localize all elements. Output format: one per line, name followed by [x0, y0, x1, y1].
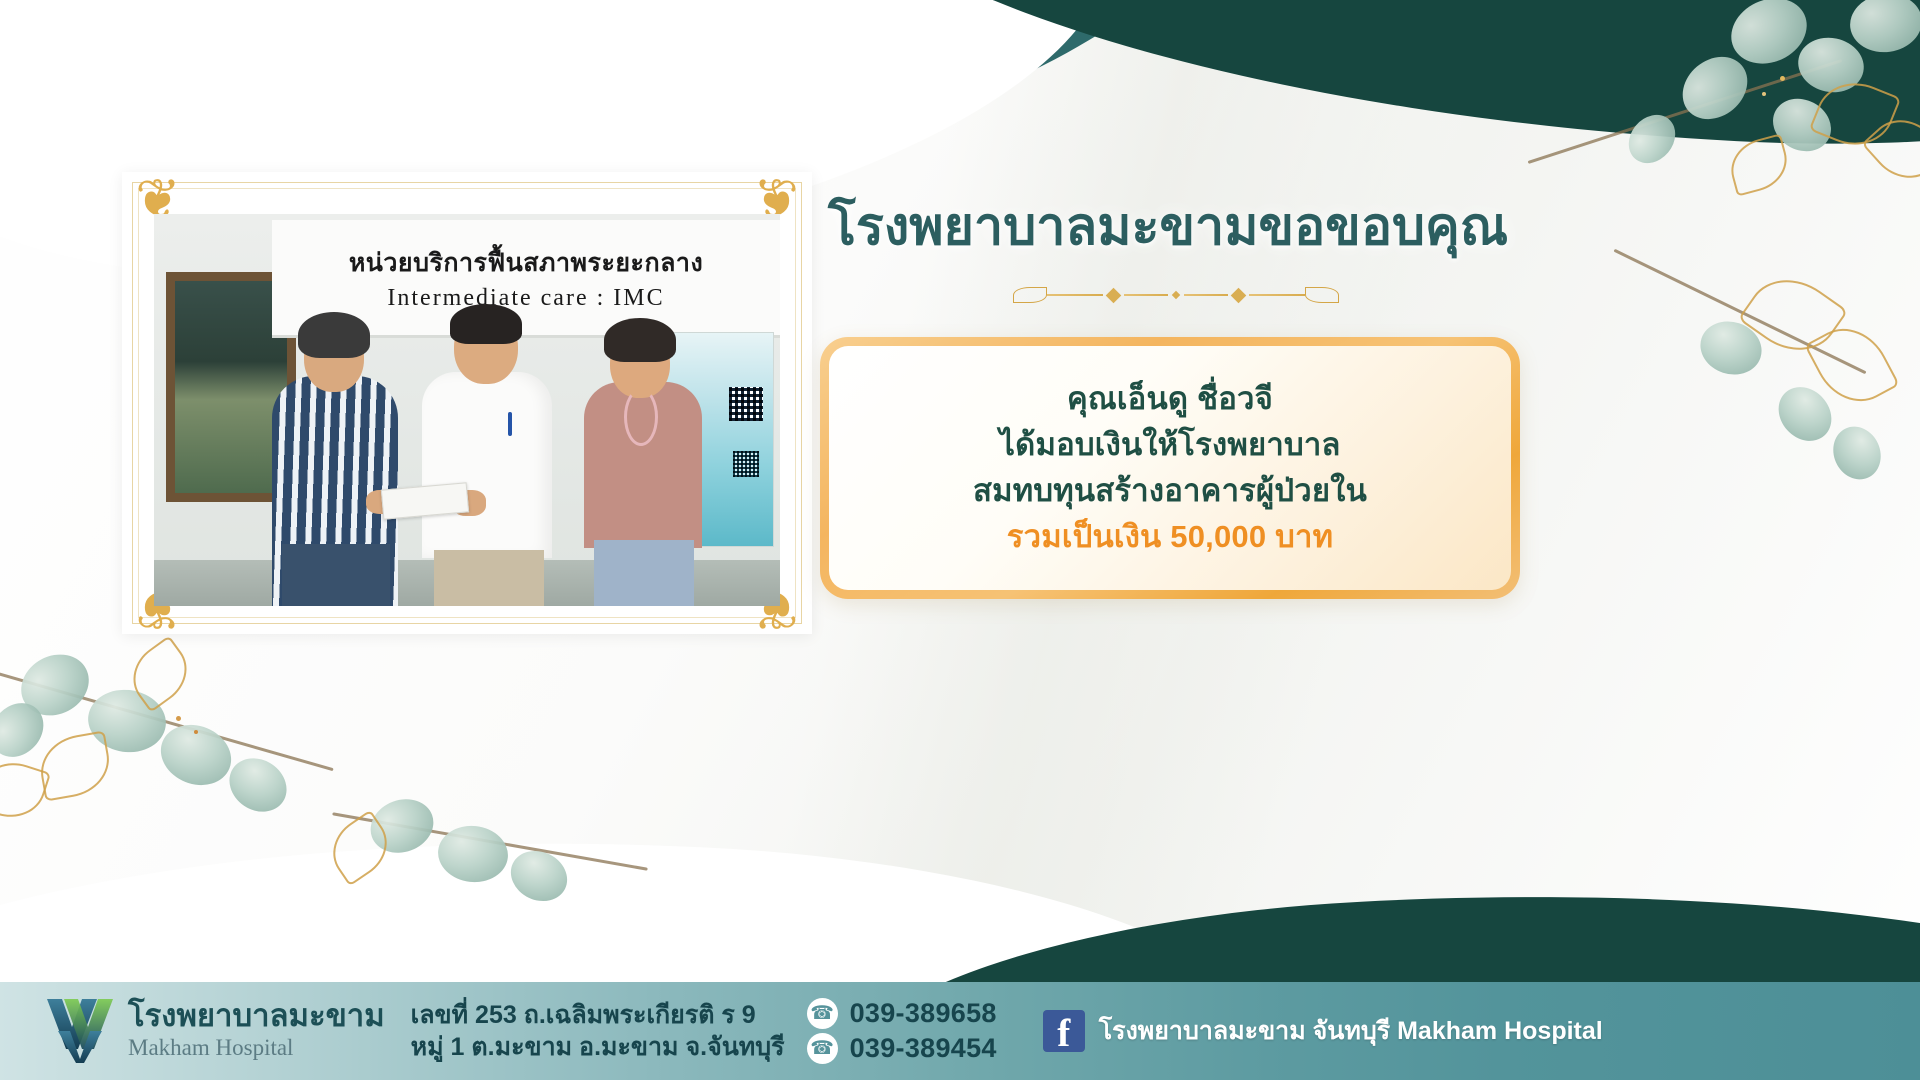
donation-line-2: ได้มอบเงินให้โรงพยาบาล: [999, 423, 1340, 467]
divider-eye-icon: [1013, 287, 1047, 303]
donation-photo: หน่วยบริการฟื้นสภาพระยะกลาง Intermediate…: [154, 214, 780, 606]
footer-bar: โรงพยาบาลมะขาม Makham Hospital เลขที่ 25…: [0, 982, 1920, 1080]
hospital-name-english: Makham Hospital: [128, 1034, 385, 1062]
divider-eye-icon-2: [1305, 287, 1339, 303]
phone-icon: ☎: [807, 998, 838, 1029]
donor-name-line: คุณเอ็นดู ชื่อวจี: [1067, 377, 1273, 421]
donation-amount-line: รวมเป็นเงิน 50,000 บาท: [1007, 515, 1333, 559]
photo-person-left-legs: [282, 544, 390, 606]
phone-list: ☎ 039-389658 ☎ 039-389454: [807, 998, 997, 1064]
photo-person-center-legs: [434, 550, 544, 606]
photo-person-right-necklace: [624, 388, 658, 446]
photo-person-left-hair: [298, 312, 370, 358]
photo-sign-english: Intermediate care : IMC: [387, 285, 664, 312]
phone-icon-2: ☎: [807, 1033, 838, 1064]
qr-code-secondary-icon: [733, 451, 759, 477]
photo-person-center-body: [422, 372, 552, 558]
address-line-1: เลขที่ 253 ถ.เฉลิมพระเกียรติ ร 9: [411, 999, 785, 1031]
donation-message-card: คุณเอ็นดู ชื่อวจี ได้มอบเงินให้โรงพยาบาล…: [820, 337, 1520, 599]
qr-code-icon: [729, 387, 763, 421]
photo-pen-icon: [508, 412, 512, 436]
phone-row-2[interactable]: ☎ 039-389454: [807, 1033, 997, 1064]
hospital-name-block: โรงพยาบาลมะขาม Makham Hospital: [128, 1000, 385, 1061]
phone-row-1[interactable]: ☎ 039-389658: [807, 998, 997, 1029]
photo-person-right-hair: [604, 318, 676, 362]
facebook-page-name: โรงพยาบาลมะขาม จันทบุรี Makham Hospital: [1099, 1011, 1603, 1051]
address-line-2: หมู่ 1 ต.มะขาม อ.มะขาม จ.จันทบุรี: [411, 1031, 785, 1063]
gold-divider-ornament: [966, 281, 1386, 309]
hospital-address: เลขที่ 253 ถ.เฉลิมพระเกียรติ ร 9 หมู่ 1 …: [411, 999, 785, 1063]
hospital-logo-icon: [44, 997, 116, 1065]
photo-person-right-legs: [594, 540, 694, 606]
donation-line-3: สมทบทุนสร้างอาคารผู้ป่วยใน: [973, 469, 1367, 513]
phone-number-1: 039-389658: [850, 998, 997, 1029]
phone-number-2: 039-389454: [850, 1033, 997, 1064]
facebook-block[interactable]: f โรงพยาบาลมะขาม จันทบุรี Makham Hospita…: [1043, 1010, 1603, 1052]
divider-diamond-icon-2: [1231, 287, 1247, 303]
photo-sign-thai: หน่วยบริการฟื้นสภาพระยะกลาง: [349, 243, 703, 283]
donation-photo-frame: ❦ ❦ ❦ ❦ หน่วยบริการฟื้นสภาพระยะกลาง Inte…: [122, 172, 812, 634]
hospital-name-thai: โรงพยาบาลมะขาม: [128, 1000, 385, 1032]
facebook-icon: f: [1043, 1010, 1085, 1052]
photo-person-center-hair: [450, 304, 522, 344]
divider-diamond-icon: [1106, 287, 1122, 303]
page-title: โรงพยาบาลมะขามขอขอบคุณ: [828, 198, 1888, 256]
divider-small-diamond-icon: [1172, 291, 1180, 299]
